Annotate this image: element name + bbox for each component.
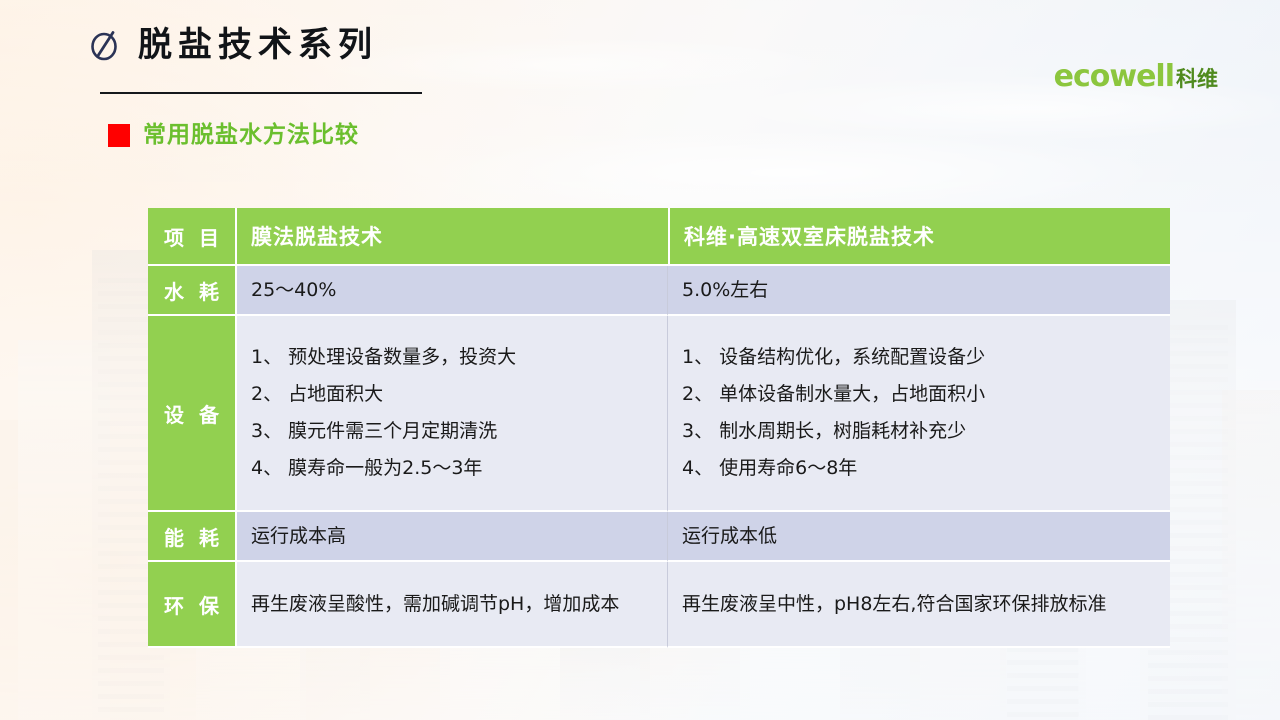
section-subheading: 常用脱盐水方法比较 bbox=[108, 124, 359, 147]
list-item: 3、 膜元件需三个月定期清洗 bbox=[251, 413, 657, 450]
equipment-list-a: 1、 预处理设备数量多，投资大 2、 占地面积大 3、 膜元件需三个月定期清洗 … bbox=[251, 339, 657, 487]
header-cell-column-a: 膜法脱盐技术 bbox=[237, 208, 668, 266]
cell-energy-b: 运行成本低 bbox=[668, 512, 1170, 562]
slashed-circle-icon bbox=[88, 28, 122, 62]
table-row: 环 保 再生废液呈酸性，需加碱调节pH，增加成本 再生废液呈中性，pH8左右,符… bbox=[148, 562, 1170, 648]
cell-environment-b: 再生废液呈中性，pH8左右,符合国家环保排放标准 bbox=[668, 562, 1170, 648]
cell-environment-a: 再生废液呈酸性，需加碱调节pH，增加成本 bbox=[237, 562, 668, 648]
slide: 脱盐技术系列 常用脱盐水方法比较 ecowell 科维 项 目 膜法脱盐技术 科… bbox=[0, 0, 1280, 720]
row-label-environment: 环 保 bbox=[148, 562, 237, 648]
cell-equipment-a: 1、 预处理设备数量多，投资大 2、 占地面积大 3、 膜元件需三个月定期清洗 … bbox=[237, 316, 668, 512]
page-title: 脱盐技术系列 bbox=[138, 28, 378, 62]
title-underline bbox=[100, 92, 422, 94]
row-label-energy: 能 耗 bbox=[148, 512, 237, 562]
list-item: 4、 膜寿命一般为2.5～3年 bbox=[251, 450, 657, 487]
cell-equipment-b: 1、 设备结构优化，系统配置设备少 2、 单体设备制水量大，占地面积小 3、 制… bbox=[668, 316, 1170, 512]
list-item: 2、 占地面积大 bbox=[251, 376, 657, 413]
comparison-table: 项 目 膜法脱盐技术 科维·高速双室床脱盐技术 水 耗 25～40% 5.0%左… bbox=[148, 208, 1170, 648]
cell-energy-a: 运行成本高 bbox=[237, 512, 668, 562]
list-item: 1、 预处理设备数量多，投资大 bbox=[251, 339, 657, 376]
row-label-water: 水 耗 bbox=[148, 266, 237, 316]
table-row: 能 耗 运行成本高 运行成本低 bbox=[148, 512, 1170, 562]
subheading-bullet-icon bbox=[108, 124, 130, 147]
list-item: 4、 使用寿命6～8年 bbox=[682, 450, 1160, 487]
cell-water-a: 25～40% bbox=[237, 266, 668, 316]
list-item: 1、 设备结构优化，系统配置设备少 bbox=[682, 339, 1160, 376]
title-row: 脱盐技术系列 bbox=[88, 28, 378, 62]
subheading-label: 常用脱盐水方法比较 bbox=[143, 124, 359, 147]
table-header-row: 项 目 膜法脱盐技术 科维·高速双室床脱盐技术 bbox=[148, 208, 1170, 266]
brand-logo: ecowell 科维 bbox=[1054, 62, 1218, 92]
logo-wordmark: ecowell bbox=[1054, 62, 1174, 92]
row-label-equipment: 设 备 bbox=[148, 316, 237, 512]
header-cell-column-b: 科维·高速双室床脱盐技术 bbox=[668, 208, 1170, 266]
table-row: 设 备 1、 预处理设备数量多，投资大 2、 占地面积大 3、 膜元件需三个月定… bbox=[148, 316, 1170, 512]
list-item: 2、 单体设备制水量大，占地面积小 bbox=[682, 376, 1160, 413]
slide-header: 脱盐技术系列 bbox=[88, 28, 378, 62]
list-item: 3、 制水周期长，树脂耗材补充少 bbox=[682, 413, 1160, 450]
equipment-list-b: 1、 设备结构优化，系统配置设备少 2、 单体设备制水量大，占地面积小 3、 制… bbox=[682, 339, 1160, 487]
table-row: 水 耗 25～40% 5.0%左右 bbox=[148, 266, 1170, 316]
cell-water-b: 5.0%左右 bbox=[668, 266, 1170, 316]
header-cell-item: 项 目 bbox=[148, 208, 237, 266]
logo-wordmark-cn: 科维 bbox=[1176, 69, 1218, 90]
